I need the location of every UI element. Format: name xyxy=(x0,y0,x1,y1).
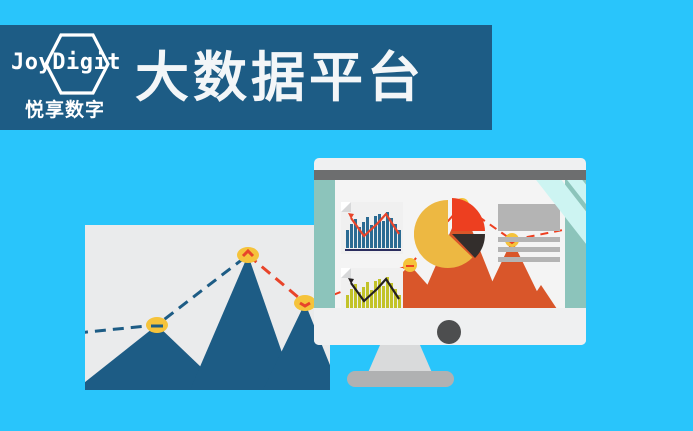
bar-chart-card-blue xyxy=(341,202,403,254)
monitor-top-bar xyxy=(314,170,586,180)
placeholder-box xyxy=(498,204,560,231)
text-placeholder-block xyxy=(498,204,560,267)
illustration-canvas: JoyDigit 悦享数字 大数据平台 xyxy=(0,0,693,431)
placeholder-line xyxy=(498,257,560,262)
webcam-icon xyxy=(437,320,461,344)
logo-subtitle: 悦享数字 xyxy=(9,95,121,122)
brand-logo: JoyDigit 悦享数字 xyxy=(0,25,125,130)
mini-bar-chart-blue-svg xyxy=(341,202,403,254)
banner-title: 大数据平台 xyxy=(135,51,425,105)
logo-wordmark: JoyDigit xyxy=(11,50,121,75)
monitor-stand-base xyxy=(347,371,454,387)
screen-side-band-left xyxy=(314,180,335,318)
placeholder-line xyxy=(498,247,560,252)
placeholder-line xyxy=(498,237,560,242)
mountain-chart-svg xyxy=(85,225,330,390)
data-marker xyxy=(294,295,316,311)
screen-side-band-right xyxy=(565,180,586,318)
left-mountain-chart-panel xyxy=(85,225,330,390)
header-banner: JoyDigit 悦享数字 大数据平台 xyxy=(0,25,492,130)
pie-chart xyxy=(414,198,486,270)
pie-slice-red xyxy=(452,198,485,231)
monitor-screen xyxy=(314,180,586,318)
